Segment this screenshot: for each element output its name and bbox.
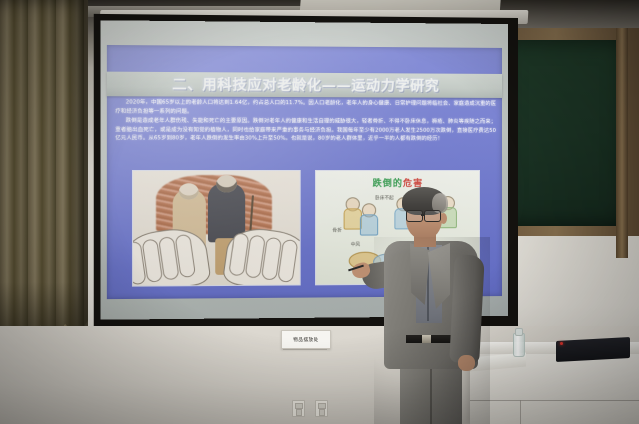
- placement-sign: 物品摆放处: [281, 330, 331, 349]
- placement-sign-text: 物品摆放处: [293, 337, 318, 343]
- water-bottle: [513, 333, 525, 357]
- eyeglasses-right-lens: [424, 210, 441, 222]
- slide-paragraph-1: 2020年，中国65岁以上的老龄人口将达到1.64亿，约占总人口的11.7%。因…: [115, 98, 496, 117]
- eyeglasses-bridge: [421, 214, 424, 216]
- slide-title-bar: 二、用科技应对老龄化——运动力学研究: [107, 72, 502, 98]
- eyeglasses-left-lens: [406, 210, 423, 222]
- power-outlet-left: [292, 400, 305, 417]
- elderly-person-left-head: [179, 183, 199, 199]
- blackboard-post: [616, 28, 628, 258]
- slide-title: 二、用科技应对老龄化——运动力学研究: [172, 74, 439, 96]
- presenter-right-arm: [449, 254, 485, 363]
- slide-paragraph-2: 跌倒是造成老年人群伤残、失能和死亡的主要原因。跌倒对老年人的健康和生活自理的威胁…: [115, 117, 496, 144]
- console-power-led: [560, 342, 563, 345]
- green-chalkboard: [503, 40, 625, 226]
- power-outlet-right: [315, 400, 328, 417]
- presenter-trouser-seam: [430, 369, 432, 424]
- window-curtain: [0, 0, 88, 352]
- slide-body-text: 2020年，中国65岁以上的老龄人口将达到1.64亿，约占总人口的11.7%。因…: [115, 98, 496, 145]
- presenter-right-hand: [458, 355, 475, 371]
- elderly-person-right-head: [216, 175, 237, 192]
- water-bottle-cap: [515, 328, 523, 336]
- control-console: [556, 337, 630, 362]
- presenter-belt-buckle: [422, 335, 431, 343]
- hazard-caption-stroke: 中风: [351, 242, 360, 248]
- presenter-ear: [440, 213, 447, 224]
- lecture-hall-photo: 二、用科技应对老龄化——运动力学研究 2020年，中国65岁以上的老龄人口将达到…: [0, 0, 639, 424]
- presenter: [366, 183, 496, 424]
- elderly-couple-in-hands-image: [132, 170, 301, 287]
- hazard-caption-fracture: 骨折: [332, 228, 341, 234]
- podium-seam-vertical: [520, 400, 521, 424]
